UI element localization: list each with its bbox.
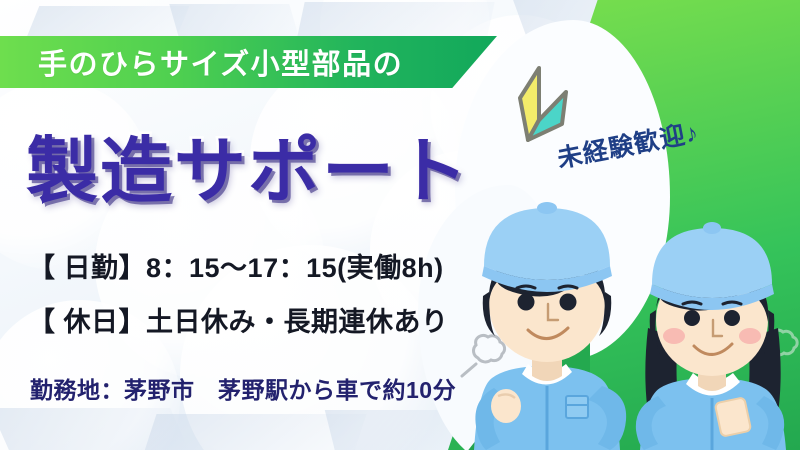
beginner-leaf-mark-icon xyxy=(500,62,578,148)
page-title: 製造サポート xyxy=(26,112,470,217)
female-worker-character xyxy=(630,218,796,450)
work-hours-line: 【 日勤】8：15〜17：15(実働8h) xyxy=(28,246,444,285)
holidays-line: 【 休日】土日休み・長期連休あり xyxy=(28,300,449,339)
work-location-line: 勤務地：茅野市 茅野駅から車で約10分 xyxy=(30,371,456,405)
ribbon-text: 手のひらサイズ小型部品の xyxy=(38,41,403,83)
headline-ribbon: 手のひらサイズ小型部品の xyxy=(0,36,497,88)
job-advertisement-banner: 手のひらサイズ小型部品の 未経験歓迎♪ 製造サポート 【 日勤】8：15〜17：… xyxy=(0,0,800,450)
male-worker-character xyxy=(462,196,632,450)
